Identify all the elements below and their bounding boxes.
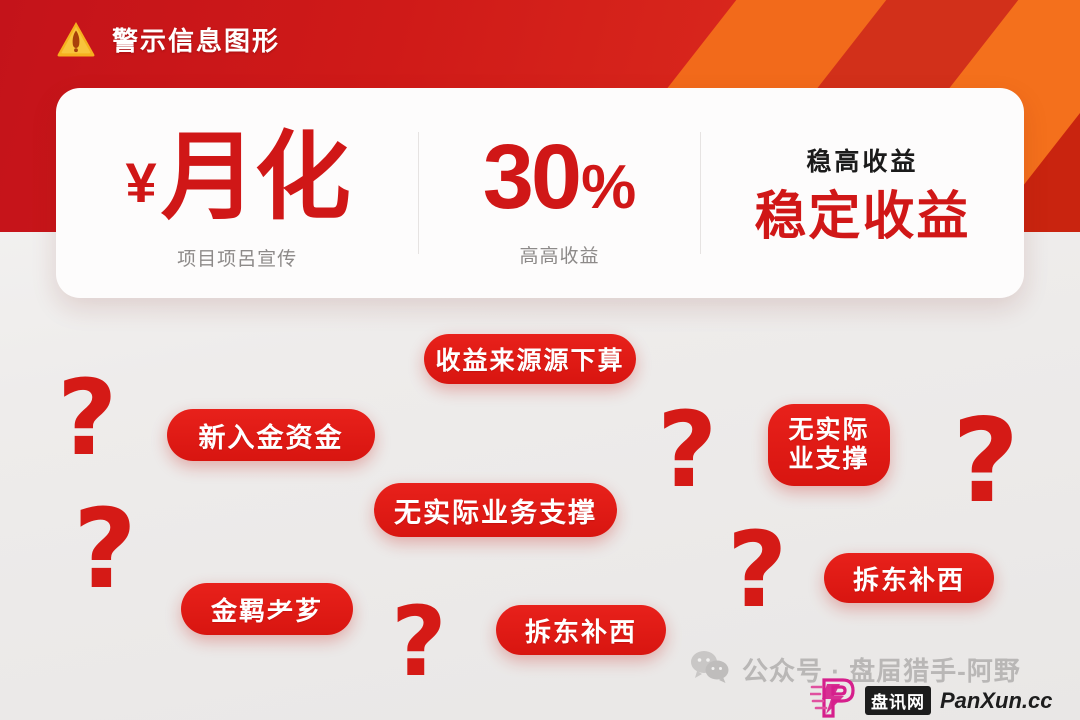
- rate-subtitle: 高高收益: [519, 241, 599, 268]
- badge-rob-peter-right[interactable]: 拆东补西: [824, 553, 994, 603]
- panxun-badge: 盘讯网: [865, 686, 931, 715]
- panxun-logo: 盘讯网 PanXun.cc: [810, 676, 1052, 720]
- warning-triangle-icon: [56, 19, 96, 59]
- question-mark-icon: ?: [391, 594, 447, 690]
- question-mark-icon: ?: [727, 518, 787, 622]
- wechat-icon: [690, 650, 730, 689]
- question-mark-icon: ?: [73, 494, 137, 604]
- badge-rob-peter-bottom[interactable]: 拆东补西: [496, 605, 666, 655]
- stat-panel-rate: 30 % 高高收益: [419, 88, 699, 298]
- stat-panel-monthly: ¥ 月化 项目项呂宣传: [56, 88, 418, 298]
- badge-gold-garbled[interactable]: 金羁耂芗: [181, 583, 353, 635]
- stable-top-label: 稳高收益: [806, 142, 918, 178]
- stable-headline: 稳定收益: [754, 190, 970, 245]
- badge-label: 收益来源源下萛: [435, 341, 624, 377]
- poster-root: 警示信息图形 ¥ 月化 项目项呂宣传 30 % 高高收益 稳高收益 稳定收益 ?…: [0, 0, 1080, 720]
- badge-label: 拆东补西: [853, 560, 965, 597]
- page-title: 警示信息图形: [112, 21, 280, 58]
- banner-header: 警示信息图形: [56, 19, 280, 59]
- question-mark-icon: ?: [952, 404, 1019, 520]
- stat-panel-stable: 稳高收益 稳定收益: [701, 88, 1024, 298]
- badge-label: 拆东补西: [525, 612, 637, 649]
- panxun-p-logo: [810, 676, 856, 720]
- badge-new-funds[interactable]: 新入金资金: [167, 409, 375, 461]
- badge-no-real-support[interactable]: 无实际业支撑: [768, 404, 890, 486]
- stats-card: ¥ 月化 项目项呂宣传 30 % 高高收益 稳高收益 稳定收益: [56, 88, 1024, 298]
- panxun-name: PanXun.cc: [940, 688, 1052, 714]
- badge-label: 新入金资金: [199, 416, 344, 455]
- monthly-subtitle: 项目项呂宣传: [177, 244, 297, 271]
- question-mark-icon: ?: [657, 398, 717, 502]
- badge-no-real-business[interactable]: 无实际业务支撑: [374, 483, 617, 537]
- rate-number: 30: [483, 131, 579, 223]
- stat-panel-monthly-value: ¥ 月化: [126, 130, 349, 226]
- badge-line-1: 无实际: [788, 416, 869, 446]
- yen-symbol: ¥: [126, 155, 157, 211]
- badge-income-source[interactable]: 收益来源源下萛: [424, 334, 636, 384]
- question-mark-icon: ?: [57, 366, 117, 470]
- badge-line-2: 业支撑: [788, 445, 869, 475]
- stat-panel-rate-value: 30 %: [483, 131, 636, 223]
- percent-symbol: %: [581, 157, 636, 219]
- badge-label: 无实际业务支撑: [394, 491, 597, 530]
- monthly-headline: 月化: [161, 130, 349, 226]
- badge-label: 金羁耂芗: [211, 591, 323, 628]
